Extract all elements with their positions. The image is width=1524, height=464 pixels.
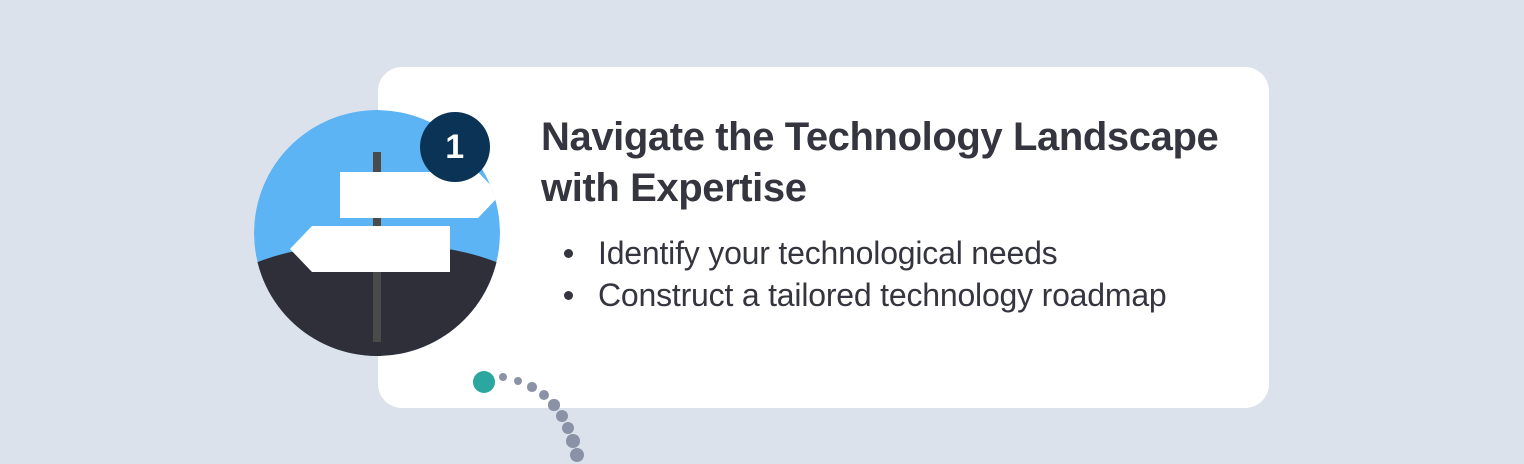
benefit-list: Identify your technological needs Constr… [541,234,1221,315]
slide-canvas: 1 Navigate the Technology Landscape with… [0,0,1524,464]
step-number-label: 1 [445,130,464,164]
list-item-label: Identify your technological needs [598,235,1057,271]
lower-sign-pointing-left [290,226,450,272]
bullet-dot-icon [564,291,573,300]
step-number-badge: 1 [420,112,490,182]
card-content: Navigate the Technology Landscape with E… [541,112,1221,318]
list-item: Identify your technological needs [541,234,1221,274]
trail-dot [562,422,575,435]
list-item: Construct a tailored technology roadmap [541,276,1221,316]
trail-dot [556,410,568,422]
trail-dot [570,448,584,462]
upper-sign-pointing-right [340,172,500,218]
list-item-label: Construct a tailored technology roadmap [598,277,1167,313]
card-title: Navigate the Technology Landscape with E… [541,112,1221,214]
bullet-dot-icon [564,249,573,258]
trail-dot [566,434,580,448]
